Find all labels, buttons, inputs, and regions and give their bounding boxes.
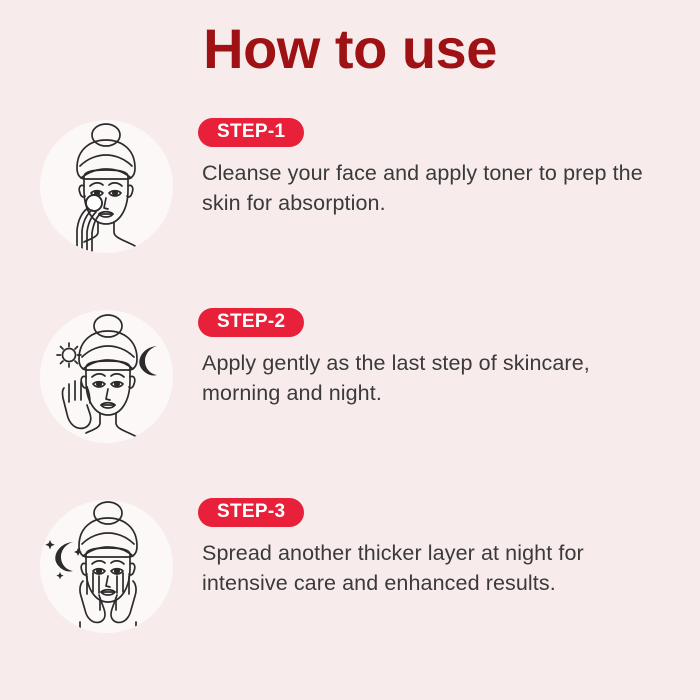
step-2-badge: STEP-2 [198,308,304,337]
step-1-text-block: STEP-1 Cleanse your face and apply toner… [198,118,678,219]
step-3-text-block: STEP-3 Spread another thicker layer at n… [198,498,678,599]
step-row: STEP-2 Apply gently as the last step of … [0,308,700,453]
step-1-badge: STEP-1 [198,118,304,147]
step-2-illustration-circle [40,310,173,443]
sun-icon [57,343,81,367]
step-3-illustration-circle [40,500,173,633]
step-3-badge: STEP-3 [198,498,304,527]
step-1-description: Cleanse your face and apply toner to pre… [202,158,672,219]
page-title: How to use [0,18,700,80]
woman-night-two-hands-icon [40,500,173,633]
step-2-text-block: STEP-2 Apply gently as the last step of … [198,308,678,409]
woman-applying-cotton-pad-icon [40,120,173,253]
step-row: STEP-1 Cleanse your face and apply toner… [0,118,700,263]
woman-day-and-night-application-icon [40,310,173,443]
step-2-description: Apply gently as the last step of skincar… [202,348,672,409]
step-3-description: Spread another thicker layer at night fo… [202,538,672,599]
crescent-moon-icon [55,542,73,572]
step-1-illustration-circle [40,120,173,253]
crescent-moon-icon [139,346,157,376]
step-row: STEP-3 Spread another thicker layer at n… [0,498,700,643]
